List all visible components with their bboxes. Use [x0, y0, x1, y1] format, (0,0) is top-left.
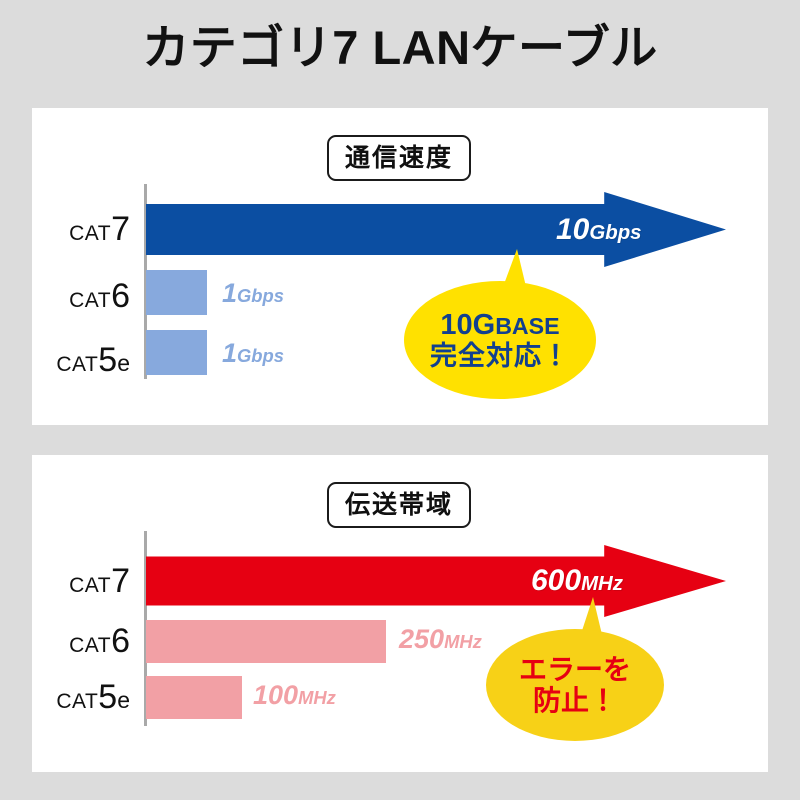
bandwidth-row-cat5e-label: CAT5e — [20, 678, 130, 718]
category-number: 6 — [111, 277, 130, 315]
category-number: 5 — [98, 341, 117, 379]
bandwidth-bar-cat5e — [146, 676, 242, 719]
bandwidth-value-cat5e: 100MHz — [253, 680, 336, 711]
category-number: 7 — [111, 562, 130, 600]
bandwidth-callout-line2: 防止！ — [533, 685, 617, 716]
category-label-cat6: CAT6 — [20, 622, 130, 661]
bandwidth-value-cat6: 250MHz — [399, 624, 482, 655]
speed-value-cat5e: 1Gbps — [222, 338, 284, 369]
category-number: 5 — [98, 678, 117, 716]
bandwidth-value-cat7: 600MHz — [531, 564, 623, 598]
speed-callout-bubble: 10GBASE 完全対応！ — [404, 281, 596, 399]
value-number: 1 — [222, 338, 237, 368]
value-unit: MHz — [581, 573, 623, 595]
speed-bar-cat6 — [146, 270, 207, 315]
category-label-cat5e: CAT5e — [20, 678, 130, 717]
speed-value-cat6: 1Gbps — [222, 278, 284, 309]
bandwidth-row-cat6-label: CAT6 — [20, 622, 130, 662]
page-title: カテゴリ7 LANケーブル — [0, 22, 800, 74]
bandwidth-callout-line1: エラーを — [519, 654, 631, 685]
speed-row-cat6-label: CAT6 — [20, 277, 130, 317]
category-suffix: e — [117, 687, 130, 713]
speed-callout-line2: 完全対応！ — [430, 341, 570, 371]
category-word: CAT — [56, 690, 98, 713]
category-number: 7 — [111, 210, 130, 248]
category-word: CAT — [56, 353, 98, 376]
speed-bar-cat5e — [146, 330, 207, 375]
category-word: CAT — [69, 634, 111, 657]
value-number: 10 — [556, 213, 589, 246]
category-suffix: e — [117, 350, 130, 376]
value-unit: Gbps — [237, 345, 284, 366]
category-word: CAT — [69, 574, 111, 597]
category-word: CAT — [69, 289, 111, 312]
category-label-cat5e: CAT5e — [20, 341, 130, 380]
bandwidth-bar-cat6 — [146, 620, 386, 663]
value-unit: Gbps — [589, 222, 641, 244]
category-number: 6 — [111, 622, 130, 660]
speed-callout-line1: 10GBASE — [440, 309, 559, 341]
value-unit: MHz — [444, 631, 482, 652]
value-number: 100 — [253, 680, 298, 710]
speed-row-cat7-label: CAT7 — [20, 210, 130, 250]
speed-value-cat7: 10Gbps — [556, 213, 642, 247]
callout-sub-text: BASE — [495, 313, 559, 339]
category-label-cat7: CAT7 — [20, 210, 130, 249]
value-unit: MHz — [298, 687, 336, 708]
speed-row-cat5e-label: CAT5e — [20, 341, 130, 381]
bandwidth-section-heading: 伝送帯域 — [327, 482, 471, 528]
category-word: CAT — [69, 222, 111, 245]
infographic-page: カテゴリ7 LANケーブル 通信速度 CAT7 10Gbps CAT6 1Gbp… — [0, 0, 800, 800]
category-label-cat7: CAT7 — [20, 562, 130, 601]
callout-main-text: 10G — [440, 309, 495, 341]
value-number: 1 — [222, 278, 237, 308]
speed-section-heading: 通信速度 — [327, 135, 471, 181]
bandwidth-callout-bubble: エラーを 防止！ — [486, 629, 664, 741]
category-label-cat6: CAT6 — [20, 277, 130, 316]
bandwidth-row-cat7-label: CAT7 — [20, 562, 130, 602]
value-unit: Gbps — [237, 285, 284, 306]
value-number: 600 — [531, 564, 581, 597]
value-number: 250 — [399, 624, 444, 654]
